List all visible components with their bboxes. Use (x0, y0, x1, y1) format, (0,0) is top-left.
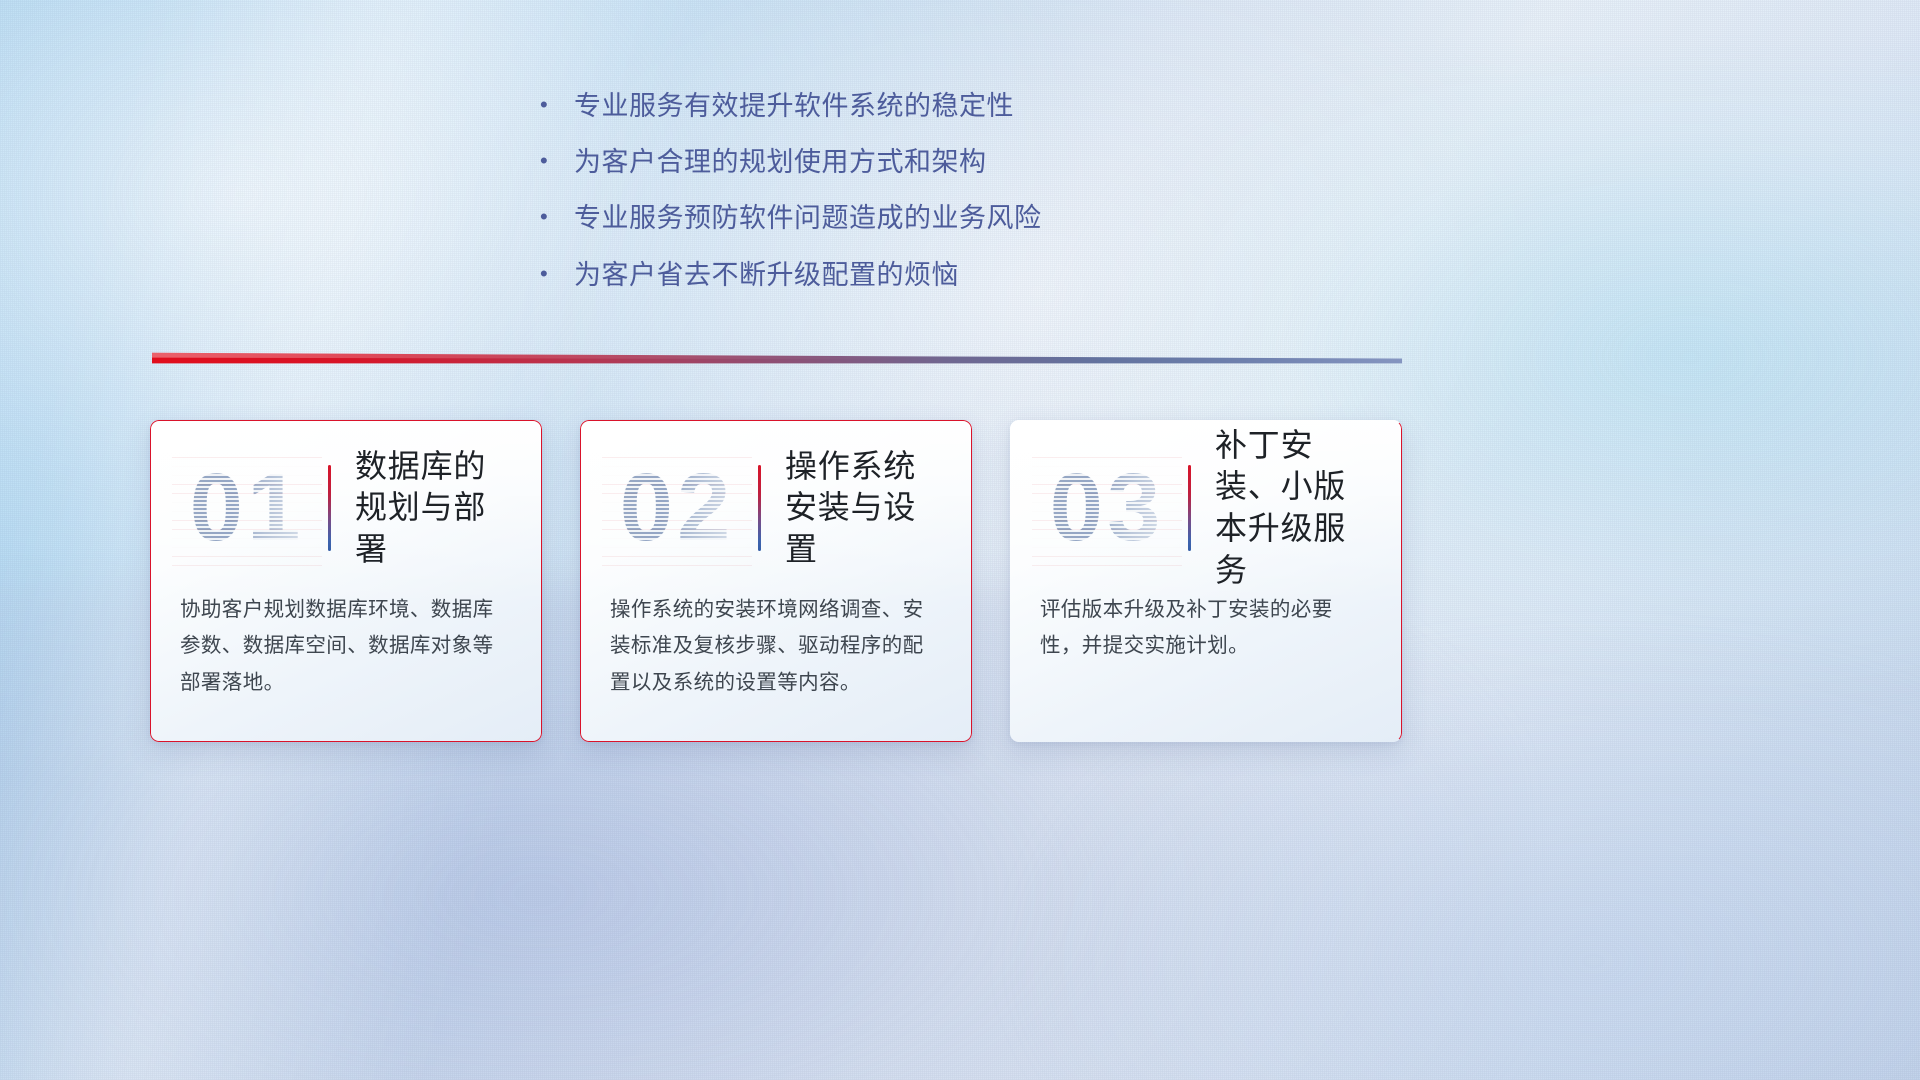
bullet-text: 专业服务有效提升软件系统的稳定性 (574, 88, 1440, 124)
bullet-text: 为客户合理的规划使用方式和架构 (574, 144, 1440, 180)
card-number-watermark: 03 (1032, 450, 1182, 566)
list-item: • 为客户合理的规划使用方式和架构 (540, 144, 1440, 180)
bullet-marker-icon: • (540, 200, 574, 233)
title-accent-bar (1188, 465, 1191, 551)
card-number-watermark: 02 (602, 450, 752, 566)
card-number-text: 01 (190, 453, 305, 563)
card-header: 02 操作系统安装与设置 (580, 440, 952, 576)
card-description: 协助客户规划数据库环境、数据库参数、数据库空间、数据库对象等部署落地。 (180, 592, 512, 701)
service-card-02[interactable]: 02 操作系统安装与设置 操作系统的安装环境网络调查、安装标准及复核步骤、驱动程… (580, 420, 972, 742)
list-item: • 为客户省去不断升级配置的烦恼 (540, 257, 1440, 293)
card-description: 评估版本升级及补丁安装的必要性，并提交实施计划。 (1040, 592, 1372, 665)
title-accent-bar (758, 465, 761, 551)
card-title: 数据库的规划与部署 (355, 446, 522, 571)
benefits-bullet-list: • 专业服务有效提升软件系统的稳定性 • 为客户合理的规划使用方式和架构 • 专… (540, 88, 1440, 313)
service-card-grid: 01 数据库的规划与部署 协助客户规划数据库环境、数据库参数、数据库空间、数据库… (150, 420, 1402, 742)
bullet-text: 专业服务预防软件问题造成的业务风险 (574, 200, 1440, 236)
title-accent-bar (328, 465, 331, 551)
card-number-text: 02 (620, 453, 735, 563)
card-title: 操作系统安装与设置 (785, 446, 952, 571)
bullet-marker-icon: • (540, 144, 574, 177)
list-item: • 专业服务预防软件问题造成的业务风险 (540, 200, 1440, 236)
card-title: 补丁安装、小版本升级服务 (1215, 425, 1382, 591)
card-number-text: 03 (1050, 453, 1165, 563)
bullet-text: 为客户省去不断升级配置的烦恼 (574, 257, 1440, 293)
list-item: • 专业服务有效提升软件系统的稳定性 (540, 88, 1440, 124)
service-card-03[interactable]: 03 补丁安装、小版本升级服务 评估版本升级及补丁安装的必要性，并提交实施计划。 (1010, 420, 1402, 742)
card-number-watermark: 01 (172, 450, 322, 566)
service-card-01[interactable]: 01 数据库的规划与部署 协助客户规划数据库环境、数据库参数、数据库空间、数据库… (150, 420, 542, 742)
card-description: 操作系统的安装环境网络调查、安装标准及复核步骤、驱动程序的配置以及系统的设置等内… (610, 592, 942, 701)
bullet-marker-icon: • (540, 257, 574, 290)
section-divider (152, 348, 1402, 364)
card-header: 03 补丁安装、小版本升级服务 (1010, 440, 1382, 576)
card-header: 01 数据库的规划与部署 (150, 440, 522, 576)
bullet-marker-icon: • (540, 88, 574, 121)
